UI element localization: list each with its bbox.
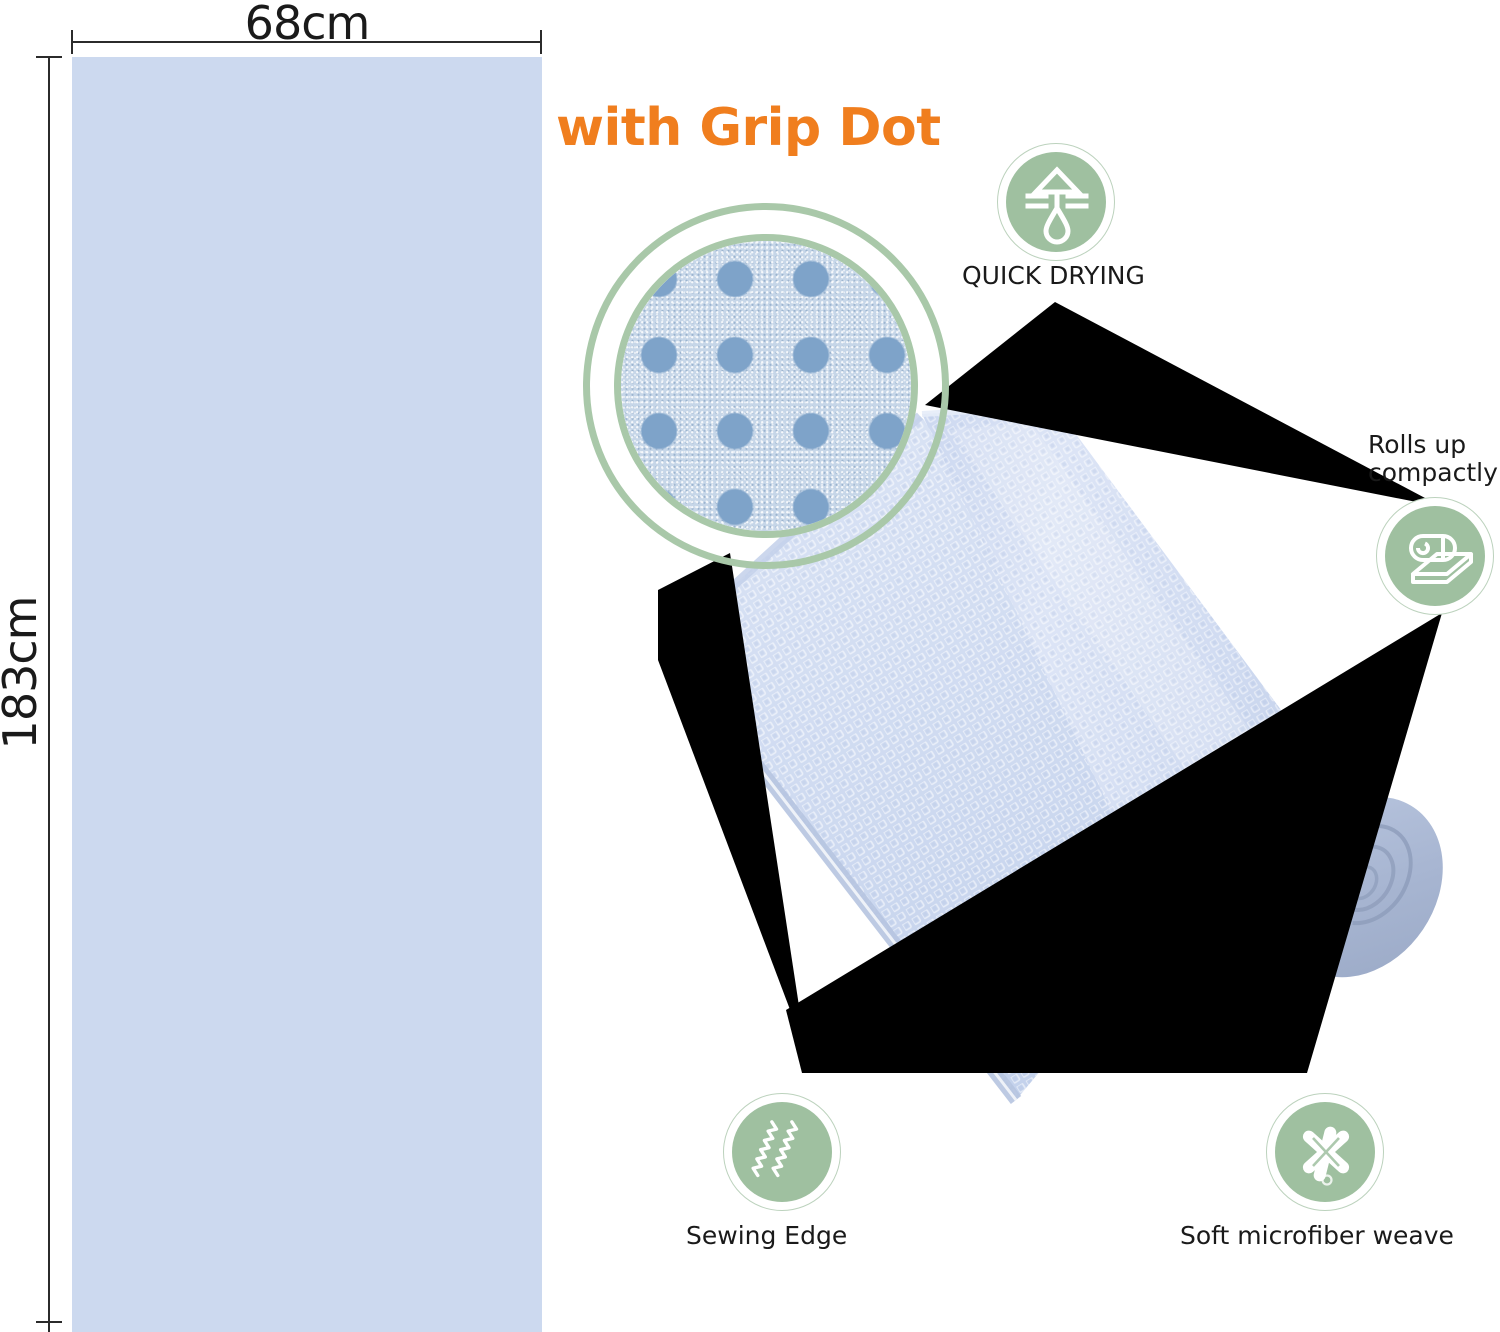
stitch-icon: [732, 1102, 834, 1204]
grip-dot-closeup: [583, 203, 949, 569]
yoga-towel-size-swatch: [72, 57, 542, 1332]
rolls-up-compactly-badge: [1376, 497, 1494, 615]
height-tick-bottom: [36, 1321, 62, 1323]
product-infographic: 68cm 183cm with Grip Dot: [0, 0, 1500, 1332]
quick-drying-badge: [997, 143, 1115, 261]
height-dimension-line: [48, 57, 50, 1332]
quick-drying-icon: [1006, 152, 1108, 254]
height-tick-top: [36, 56, 62, 58]
woven-fiber-icon: [1275, 1102, 1377, 1204]
sewing-edge-label: Sewing Edge: [686, 1222, 847, 1250]
rolled-mat-icon: [1385, 506, 1487, 608]
page-title: with Grip Dot: [556, 98, 941, 158]
sewing-edge-badge: [723, 1093, 841, 1211]
grip-dot-fabric-texture: [621, 241, 911, 531]
rolls-up-compactly-label: Rolls up compactly: [1368, 431, 1498, 487]
quick-drying-label: QUICK DRYING: [962, 262, 1145, 290]
width-dimension-label: 68cm: [72, 0, 542, 50]
soft-microfiber-weave-badge: [1266, 1093, 1384, 1211]
height-dimension-label: 183cm: [0, 413, 47, 933]
magnifier-inner-ring: [614, 234, 918, 538]
soft-microfiber-weave-label: Soft microfiber weave: [1180, 1222, 1454, 1250]
